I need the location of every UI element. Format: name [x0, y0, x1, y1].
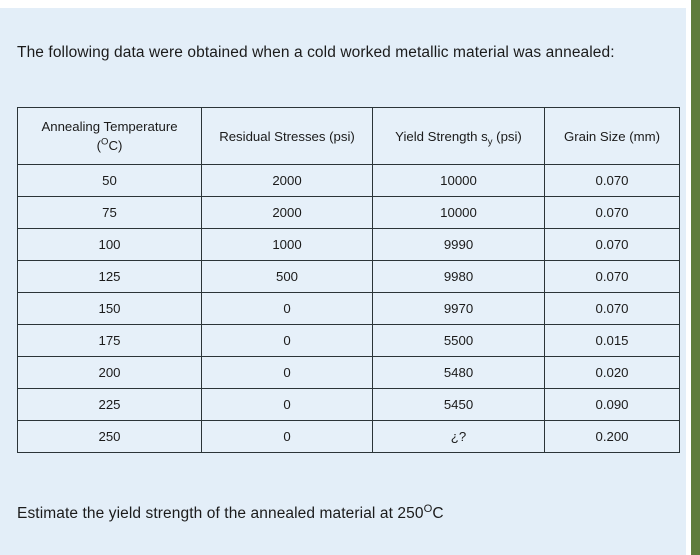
table-row: 100100099900.070 — [18, 229, 680, 261]
intro-line-2: annealed: — [546, 44, 615, 61]
header-annealing-temperature-label: Annealing Temperature — [41, 119, 177, 134]
table-header-row: Annealing Temperature (OC) Residual Stre… — [18, 108, 680, 165]
cell-grain-size: 0.070 — [545, 261, 680, 293]
cell-grain-size: 0.070 — [545, 293, 680, 325]
cell-grain-size: 0.020 — [545, 357, 680, 389]
cell-annealing-temperature: 100 — [18, 229, 202, 261]
cell-yield-strength: 5500 — [373, 325, 545, 357]
cell-residual-stress: 1000 — [202, 229, 373, 261]
cell-grain-size: 0.070 — [545, 229, 680, 261]
table-row: 502000100000.070 — [18, 165, 680, 197]
cell-residual-stress: 0 — [202, 357, 373, 389]
table-row: 200054800.020 — [18, 357, 680, 389]
question-prefix: Estimate the yield strength of the annea… — [17, 505, 424, 522]
cell-residual-stress: 2000 — [202, 197, 373, 229]
table-row: 12550099800.070 — [18, 261, 680, 293]
cell-yield-strength: 9990 — [373, 229, 545, 261]
table-body: 502000100000.070752000100000.07010010009… — [18, 165, 680, 453]
question-paragraph: Estimate the yield strength of the annea… — [17, 502, 657, 525]
column-header-yield-strength: Yield Strength sy (psi) — [373, 108, 545, 165]
cell-annealing-temperature: 250 — [18, 421, 202, 453]
cell-yield-strength: 5480 — [373, 357, 545, 389]
annealing-data-table: Annealing Temperature (OC) Residual Stre… — [17, 107, 680, 453]
cell-annealing-temperature: 125 — [18, 261, 202, 293]
cell-annealing-temperature: 150 — [18, 293, 202, 325]
cell-residual-stress: 0 — [202, 389, 373, 421]
column-header-residual-stresses: Residual Stresses (psi) — [202, 108, 373, 165]
cell-residual-stress: 0 — [202, 293, 373, 325]
cell-annealing-temperature: 175 — [18, 325, 202, 357]
cell-grain-size: 0.200 — [545, 421, 680, 453]
intro-line-1: The following data were obtained when a … — [17, 44, 541, 61]
right-accent-bar — [691, 0, 700, 555]
cell-yield-strength: 10000 — [373, 165, 545, 197]
table-row: 752000100000.070 — [18, 197, 680, 229]
header-yield-strength-prefix: Yield Strength s — [395, 129, 488, 144]
column-header-annealing-temperature: Annealing Temperature (OC) — [18, 108, 202, 165]
annealing-data-table-container: Annealing Temperature (OC) Residual Stre… — [17, 107, 679, 453]
table-row: 2500¿?0.200 — [18, 421, 680, 453]
question-unit: C — [432, 505, 443, 522]
header-annealing-temperature-unit-close: C) — [108, 138, 122, 153]
cell-grain-size: 0.015 — [545, 325, 680, 357]
cell-grain-size: 0.090 — [545, 389, 680, 421]
cell-annealing-temperature: 75 — [18, 197, 202, 229]
cell-yield-strength: 5450 — [373, 389, 545, 421]
page-root: The following data were obtained when a … — [0, 0, 700, 555]
cell-yield-strength: ¿? — [373, 421, 545, 453]
cell-grain-size: 0.070 — [545, 165, 680, 197]
intro-paragraph: The following data were obtained when a … — [17, 41, 657, 64]
table-row: 175055000.015 — [18, 325, 680, 357]
cell-residual-stress: 500 — [202, 261, 373, 293]
header-grain-size-label: Grain Size (mm) — [564, 129, 660, 144]
cell-residual-stress: 2000 — [202, 165, 373, 197]
header-yield-strength-suffix: (psi) — [493, 129, 522, 144]
cell-yield-strength: 9970 — [373, 293, 545, 325]
cell-grain-size: 0.070 — [545, 197, 680, 229]
cell-annealing-temperature: 50 — [18, 165, 202, 197]
cell-annealing-temperature: 225 — [18, 389, 202, 421]
table-row: 225054500.090 — [18, 389, 680, 421]
header-residual-stresses-label: Residual Stresses (psi) — [219, 129, 355, 144]
cell-yield-strength: 9980 — [373, 261, 545, 293]
cell-residual-stress: 0 — [202, 421, 373, 453]
table-row: 150099700.070 — [18, 293, 680, 325]
column-header-grain-size: Grain Size (mm) — [545, 108, 680, 165]
content-panel: The following data were obtained when a … — [0, 8, 686, 555]
cell-residual-stress: 0 — [202, 325, 373, 357]
table-header: Annealing Temperature (OC) Residual Stre… — [18, 108, 680, 165]
cell-yield-strength: 10000 — [373, 197, 545, 229]
cell-annealing-temperature: 200 — [18, 357, 202, 389]
